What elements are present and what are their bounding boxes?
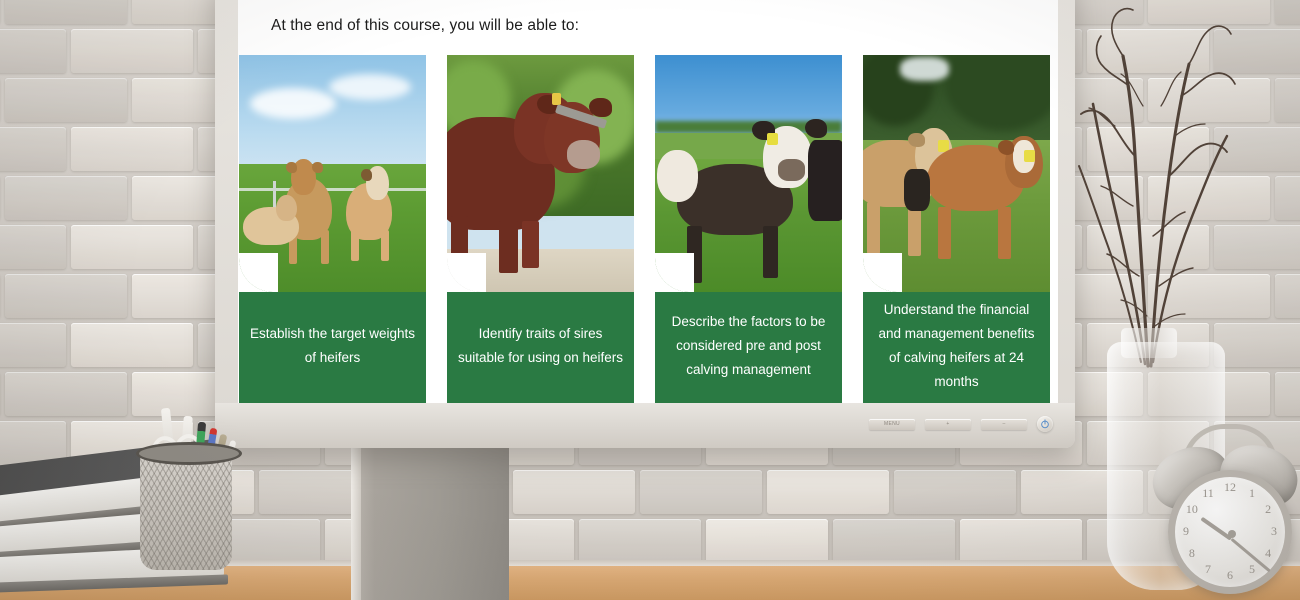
clock-numeral: 1 [1244, 486, 1260, 501]
clock-face: 121234567891011 [1168, 470, 1292, 594]
card-photo [655, 55, 842, 292]
brick [833, 519, 955, 563]
cow-right-ear [998, 140, 1015, 154]
clock-numeral: 11 [1200, 486, 1216, 501]
card-caption: Describe the factors to be considered pr… [655, 292, 842, 403]
pen-cup [128, 432, 244, 572]
presentation-slide: At the end of this course, you will be a… [238, 0, 1058, 403]
desk-scene: At the end of this course, you will be a… [0, 0, 1300, 600]
cow-ear-1 [286, 162, 297, 174]
photo-corner-inner [863, 253, 902, 292]
minus-button[interactable]: – [981, 419, 1027, 430]
clock-center-pin [1228, 530, 1236, 538]
brick [71, 323, 193, 367]
cow-leg-3 [351, 230, 358, 261]
brick [5, 78, 127, 122]
clock-numeral: 6 [1222, 568, 1238, 583]
brick [894, 470, 1016, 514]
pen-cup-mesh [140, 448, 232, 570]
card-caption: Establish the target weights of heifers [239, 292, 426, 403]
alarm-clock: 121234567891011 [1152, 418, 1300, 600]
clock-numeral: 5 [1244, 562, 1260, 577]
brick [0, 127, 66, 171]
brick [0, 225, 66, 269]
brick [5, 176, 127, 220]
monitor-bottom-bezel: MENU + – [215, 403, 1075, 448]
objective-card[interactable]: Identify traits of sires suitable for us… [447, 55, 634, 403]
brick [5, 274, 127, 318]
clock-numeral: 12 [1222, 480, 1238, 495]
power-icon [1040, 419, 1050, 429]
cow-ear-3 [361, 169, 372, 181]
computer-monitor: At the end of this course, you will be a… [215, 0, 1075, 448]
slide-heading: At the end of this course, you will be a… [271, 17, 579, 35]
photo-corner-inner [239, 253, 278, 292]
calf-muzzle [778, 159, 804, 180]
cow-dark-behind [904, 169, 930, 212]
brick [640, 470, 762, 514]
clock-numeral: 7 [1200, 562, 1216, 577]
cow-left-leg-1 [867, 202, 880, 254]
clock-numeral: 8 [1184, 546, 1200, 561]
clock-hour-hand [1200, 517, 1232, 541]
photo-corner-inner [447, 253, 486, 292]
fence-rail [239, 188, 426, 191]
objective-card[interactable]: Understand the financial and management … [863, 55, 1050, 403]
brick [579, 519, 701, 563]
brick [513, 470, 635, 514]
cow-leg-2 [321, 230, 328, 263]
ear-tag-right [1024, 150, 1035, 162]
clock-numeral: 10 [1184, 502, 1200, 517]
cloud [250, 88, 336, 119]
menu-button[interactable]: MENU [869, 419, 915, 430]
ear-tag [767, 133, 778, 145]
cow-behind-head [657, 150, 698, 202]
card-caption: Understand the financial and management … [863, 292, 1050, 403]
clock-numeral: 9 [1178, 524, 1194, 539]
monitor-control-group[interactable]: MENU + – [869, 416, 1053, 432]
bull-muzzle [567, 140, 601, 168]
objective-card[interactable]: Establish the target weights of heifers [239, 55, 426, 403]
cow-right-leg-2 [998, 207, 1011, 259]
cow-left-leg-2 [908, 204, 921, 256]
objective-card-row: Establish the target weights of heifersI… [239, 55, 1057, 403]
photo-corner-inner [655, 253, 694, 292]
card-photo [447, 55, 634, 292]
brick [0, 323, 66, 367]
photo-corner-mask [863, 253, 902, 292]
brick [71, 225, 193, 269]
cow-behind-body [808, 140, 842, 221]
cow-head-3 [276, 195, 297, 221]
clock-numeral: 2 [1260, 502, 1276, 517]
brick [5, 0, 127, 24]
brick [71, 127, 193, 171]
clock-numeral: 4 [1260, 546, 1276, 561]
card-photo [863, 55, 1050, 292]
cow-left-ear [908, 133, 925, 147]
brick [0, 29, 66, 73]
cow-right-leg-1 [938, 207, 951, 259]
cow-leg-4 [381, 230, 388, 261]
pen-cup-rim [136, 442, 242, 465]
clock-numeral: 3 [1266, 524, 1282, 539]
bull-ear-right [589, 98, 611, 117]
plus-button[interactable]: + [925, 419, 971, 430]
brick [706, 519, 828, 563]
monitor-stand-highlight [351, 448, 361, 600]
ear-tag [552, 93, 561, 105]
cloud [329, 74, 411, 100]
photo-corner-mask [447, 253, 486, 292]
calf-ear-right [805, 119, 827, 138]
card-photo [239, 55, 426, 292]
cow-ear-2 [312, 162, 323, 174]
bull-leg-3 [522, 221, 539, 268]
brick [5, 372, 127, 416]
brick [767, 470, 889, 514]
card-caption: Identify traits of sires suitable for us… [447, 292, 634, 403]
photo-corner-mask [655, 253, 694, 292]
monitor-screen: At the end of this course, you will be a… [238, 0, 1058, 403]
brick [71, 29, 193, 73]
sky-gap [900, 57, 949, 81]
power-button[interactable] [1037, 416, 1053, 432]
photo-corner-mask [239, 253, 278, 292]
monitor-stand-neck [351, 448, 509, 600]
objective-card[interactable]: Describe the factors to be considered pr… [655, 55, 842, 403]
fence-post [273, 181, 276, 209]
bull-leg-2 [499, 221, 518, 273]
calf-leg-2 [763, 226, 778, 278]
